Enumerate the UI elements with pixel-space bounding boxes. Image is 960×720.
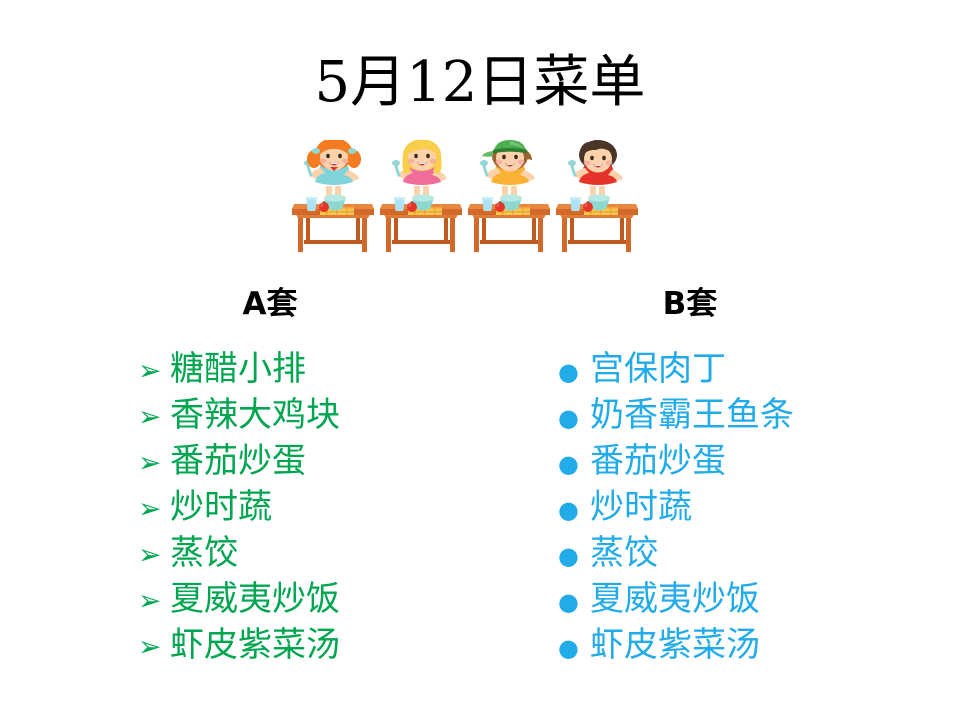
- list-item: ➢ 香辣大鸡块: [138, 392, 468, 438]
- dish-name: 夏威夷炒饭: [590, 576, 760, 622]
- dish-name: 奶香霸王鱼条: [590, 392, 794, 438]
- dish-name: 虾皮紫菜汤: [170, 622, 340, 668]
- set-a-heading: A套: [140, 285, 400, 323]
- children-eating-illustration: [292, 140, 652, 268]
- list-item: ● 夏威夷炒饭: [558, 576, 898, 622]
- dish-name: 糖醋小排: [170, 346, 306, 392]
- arrow-bullet-icon: ➢: [138, 532, 170, 578]
- list-item: ➢ 炒时蔬: [138, 484, 468, 530]
- dish-name: 蒸饺: [590, 530, 658, 576]
- list-item: ● 蒸饺: [558, 530, 898, 576]
- list-item: ● 炒时蔬: [558, 484, 898, 530]
- list-item: ● 番茄炒蛋: [558, 438, 898, 484]
- menu-slide: 5月12日菜单: [0, 0, 960, 720]
- dot-bullet-icon: ●: [558, 625, 590, 671]
- page-title: 5月12日菜单: [0, 50, 960, 116]
- dish-name: 炒时蔬: [590, 484, 692, 530]
- arrow-bullet-icon: ➢: [138, 394, 170, 440]
- dot-bullet-icon: ●: [558, 579, 590, 625]
- arrow-bullet-icon: ➢: [138, 348, 170, 394]
- arrow-bullet-icon: ➢: [138, 486, 170, 532]
- set-a-menu-list: ➢ 糖醋小排 ➢ 香辣大鸡块 ➢ 番茄炒蛋 ➢ 炒时蔬 ➢ 蒸饺 ➢ 夏威夷炒饭…: [138, 346, 468, 668]
- dish-name: 番茄炒蛋: [170, 438, 306, 484]
- dish-name: 炒时蔬: [170, 484, 272, 530]
- list-item: ➢ 糖醋小排: [138, 346, 468, 392]
- list-item: ➢ 夏威夷炒饭: [138, 576, 468, 622]
- dot-bullet-icon: ●: [558, 487, 590, 533]
- list-item: ➢ 番茄炒蛋: [138, 438, 468, 484]
- dish-name: 香辣大鸡块: [170, 392, 340, 438]
- list-item: ➢ 虾皮紫菜汤: [138, 622, 468, 668]
- dot-bullet-icon: ●: [558, 441, 590, 487]
- dot-bullet-icon: ●: [558, 395, 590, 441]
- dot-bullet-icon: ●: [558, 349, 590, 395]
- arrow-bullet-icon: ➢: [138, 440, 170, 486]
- dish-name: 宫保肉丁: [590, 346, 726, 392]
- list-item: ● 虾皮紫菜汤: [558, 622, 898, 668]
- set-b-heading: B套: [560, 285, 820, 323]
- arrow-bullet-icon: ➢: [138, 624, 170, 670]
- list-item: ● 奶香霸王鱼条: [558, 392, 898, 438]
- arrow-bullet-icon: ➢: [138, 578, 170, 624]
- dot-bullet-icon: ●: [558, 533, 590, 579]
- dish-name: 夏威夷炒饭: [170, 576, 340, 622]
- set-b-menu-list: ● 宫保肉丁 ● 奶香霸王鱼条 ● 番茄炒蛋 ● 炒时蔬 ● 蒸饺 ● 夏威夷炒…: [558, 346, 898, 668]
- dish-name: 蒸饺: [170, 530, 238, 576]
- dish-name: 虾皮紫菜汤: [590, 622, 760, 668]
- dish-name: 番茄炒蛋: [590, 438, 726, 484]
- list-item: ● 宫保肉丁: [558, 346, 898, 392]
- list-item: ➢ 蒸饺: [138, 530, 468, 576]
